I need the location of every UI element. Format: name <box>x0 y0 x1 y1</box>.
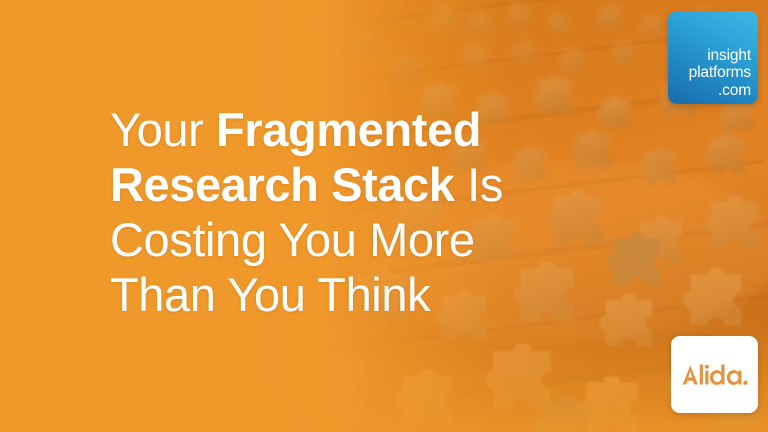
promo-banner: Your Fragmented Research Stack Is Costin… <box>0 0 768 432</box>
alida-logo[interactable] <box>671 336 758 413</box>
headline-line-2-light: Is <box>455 158 503 211</box>
insight-platforms-logo-text: insight platforms .com <box>689 47 751 100</box>
insight-platforms-logo-line-2: platforms <box>689 64 751 82</box>
headline-line-1-bold: Fragmented <box>216 103 481 156</box>
headline-line-4: Than You Think <box>110 267 580 322</box>
insight-platforms-logo[interactable]: insight platforms .com <box>668 11 758 104</box>
insight-platforms-logo-line-1: insight <box>689 47 751 65</box>
insight-platforms-logo-line-3: .com <box>689 82 751 100</box>
headline-line-2: Research Stack Is <box>110 157 580 212</box>
headline-line-1: Your Fragmented <box>110 102 580 157</box>
headline-line-3: Costing You More <box>110 212 580 267</box>
headline-line-1-light: Your <box>110 103 216 156</box>
headline-line-2-bold: Research Stack <box>110 158 455 211</box>
alida-wordmark-icon <box>682 362 748 388</box>
headline: Your Fragmented Research Stack Is Costin… <box>110 102 580 322</box>
bottom-orange-gradient <box>0 312 768 432</box>
